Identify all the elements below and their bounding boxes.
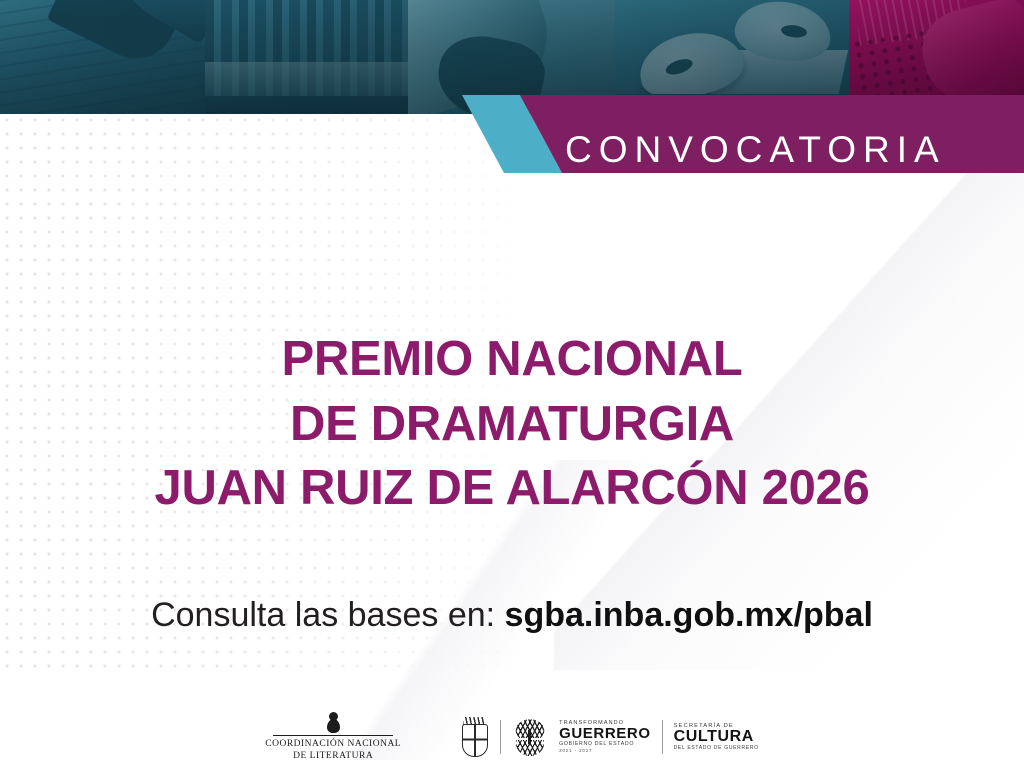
reader-figure-icon [324,712,343,733]
theatre-masks-photo [615,0,849,114]
logo-coordinacion-nacional-literatura: COORDINACIÓN NACIONAL DE LITERATURA [265,712,401,763]
logo-divider-2 [662,720,663,754]
guerrero-years-text: 2021 - 2027 [559,749,650,754]
typewriter-photo [849,0,1024,114]
cultura-sub-text: DEL ESTADO DE GUERRERO [674,746,759,751]
tree-emblem-icon [512,718,548,756]
page-title: PREMIO NACIONAL DE DRAMATURGIA JUAN RUIZ… [0,327,1024,521]
logo-gobierno-guerrero-group: TRANSFORMANDO GUERRERO GOBIERNO DEL ESTA… [459,717,759,757]
title-line-3: JUAN RUIZ DE ALARCÓN 2026 [0,456,1024,521]
bookshelf-photo [205,0,408,114]
title-line-2: DE DRAMATURGIA [0,392,1024,457]
cultura-wordmark: SECRETARÍA DE CULTURA DEL ESTADO DE GUER… [674,723,759,751]
guerrero-coat-of-arms-icon [459,717,489,757]
logo-divider-rule [273,735,393,736]
guerrero-sub-text: GOBIERNO DEL ESTADO [559,742,650,747]
title-line-1: PREMIO NACIONAL [0,327,1024,392]
guerrero-wordmark: TRANSFORMANDO GUERRERO GOBIERNO DEL ESTA… [559,721,650,754]
manuscript-pen-photo [0,0,205,114]
cnl-line-2: DE LITERATURA [293,751,373,763]
header-photo-strip [0,0,1024,114]
bases-subtitle: Consulta las bases en: sgba.inba.gob.mx/… [0,596,1024,635]
hand-writing-photo [408,0,615,114]
banner-label: CONVOCATORIA [565,129,946,171]
logo-divider-1 [500,720,501,754]
guerrero-main-text: GUERRERO [559,726,650,742]
convocatoria-poster: CONVOCATORIA PREMIO NACIONAL DE DRAMATUR… [0,0,1024,768]
cultura-main-text: CULTURA [674,729,759,746]
footer-logos: COORDINACIÓN NACIONAL DE LITERATURA TRAN… [0,706,1024,768]
cnl-line-1: COORDINACIÓN NACIONAL [265,739,401,751]
bases-subtitle-prefix: Consulta las bases en: [151,596,504,634]
bases-url-link[interactable]: sgba.inba.gob.mx/pbal [505,596,873,634]
